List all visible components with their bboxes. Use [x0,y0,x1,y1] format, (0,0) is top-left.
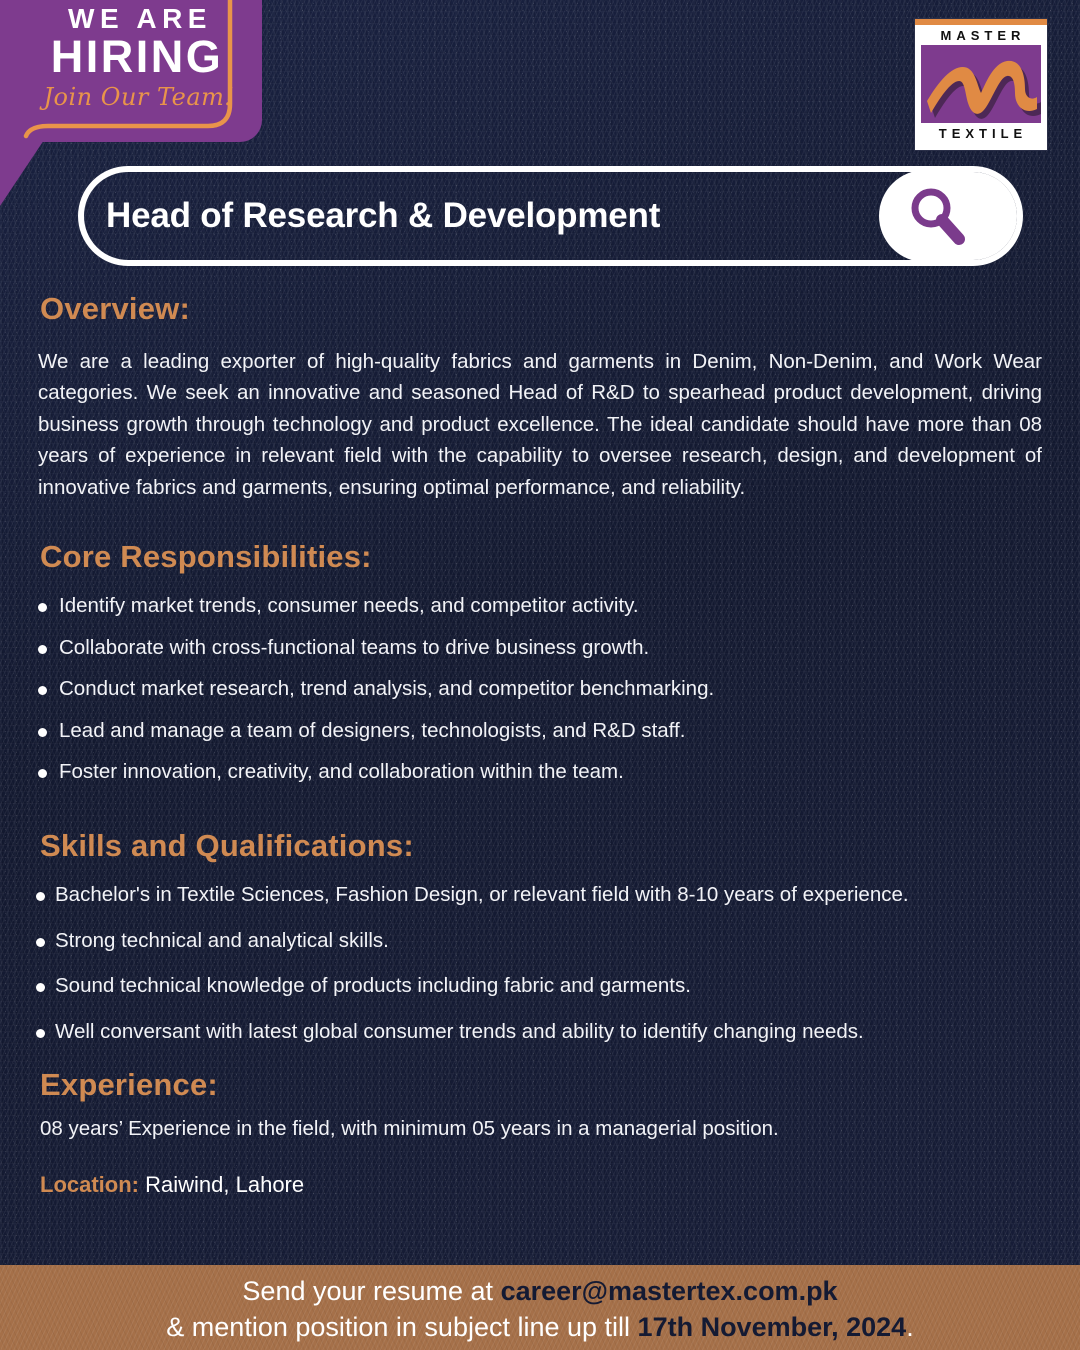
location-value: Raiwind, Lahore [145,1172,304,1197]
logo-purple-field [921,45,1041,123]
footer-line-2: & mention position in subject line up ti… [0,1309,1080,1345]
badge-line-hiring: HIRING [0,33,262,80]
experience-body: 08 years’ Experience in the field, with … [40,1117,1042,1141]
experience-heading: Experience: [40,1068,1042,1102]
footer-deadline: 17th November, 2024 [638,1312,907,1342]
footer-line-1: Send your resume at career@mastertex.com… [0,1273,1080,1309]
list-item: Well conversant with latest global consu… [38,1020,1042,1045]
master-textile-m-mark-icon [921,45,1043,123]
contact-footer: Send your resume at career@mastertex.com… [0,1265,1080,1350]
list-item: Conduct market research, trend analysis,… [38,677,1042,702]
skills-heading: Skills and Qualifications: [40,829,1042,863]
search-icon [906,184,968,246]
list-item: Identify market trends, consumer needs, … [38,594,1042,619]
responsibilities-heading: Core Responsibilities: [40,540,1042,574]
footer-email[interactable]: career@mastertex.com.pk [501,1276,838,1306]
list-item: Strong technical and analytical skills. [38,929,1042,954]
badge-tagline: Join Our Team! [0,83,262,111]
responsibilities-list: Identify market trends, consumer needs, … [38,594,1042,785]
logo-master-text: MASTER [915,25,1047,45]
list-item: Sound technical knowledge of products in… [38,974,1042,999]
footer-subject-prefix: & mention position in subject line up ti… [166,1312,637,1342]
badge-text-group: WE ARE HIRING Join Our Team! [0,0,262,142]
overview-body: We are a leading exporter of high-qualit… [38,346,1042,503]
location-line: Location: Raiwind, Lahore [40,1172,1042,1198]
list-item: Collaborate with cross-functional teams … [38,636,1042,661]
location-label: Location: [40,1172,139,1197]
skills-list: Bachelor's in Textile Sciences, Fashion … [38,883,1042,1044]
list-item: Bachelor's in Textile Sciences, Fashion … [38,883,1042,908]
footer-resume-prefix: Send your resume at [242,1276,500,1306]
overview-heading: Overview: [40,292,1042,326]
job-posting-poster: WE ARE HIRING Join Our Team! MASTER TEXT… [0,0,1080,1350]
job-title-text: Head of Research & Development [106,196,660,236]
list-item: Lead and manage a team of designers, tec… [38,719,1042,744]
poster-content: Overview: We are a leading exporter of h… [0,292,1080,1198]
list-item: Foster innovation, creativity, and colla… [38,760,1042,785]
company-logo: MASTER TEXTILE [914,18,1048,151]
job-title-search-bar[interactable]: Head of Research & Development [78,166,1023,266]
search-button[interactable] [879,170,1019,262]
footer-period: . [906,1312,914,1342]
logo-textile-text: TEXTILE [915,123,1047,143]
